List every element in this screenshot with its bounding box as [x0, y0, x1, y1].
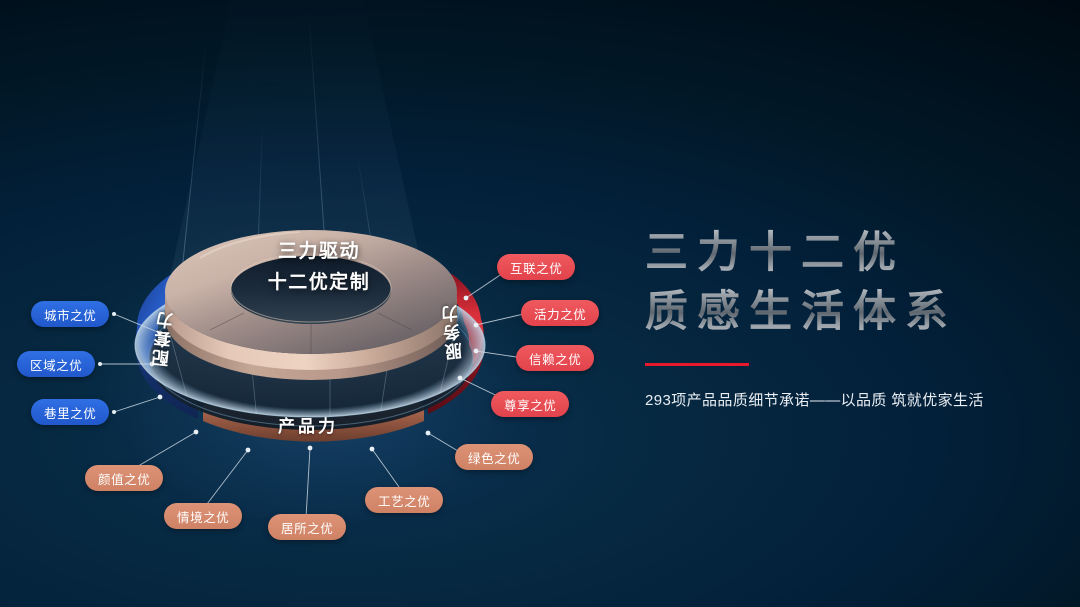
headline-line1: 三力十二优 — [645, 224, 1045, 283]
chip-vitality[interactable]: 活力之优 — [521, 300, 599, 326]
chip-dwelling[interactable]: 居所之优 — [268, 514, 346, 540]
headline-line2: 质感生活体系 — [645, 283, 1045, 342]
headline-block: 三力十二优 质感生活体系 293项产品品质细节承诺——以品质 筑就优家生活 — [645, 224, 1045, 410]
chip-craft[interactable]: 工艺之优 — [365, 487, 443, 513]
chip-trust[interactable]: 信赖之优 — [516, 345, 594, 371]
headline-subtitle: 293项产品品质细节承诺——以品质 筑就优家生活 — [645, 389, 1045, 410]
chip-privilege[interactable]: 尊享之优 — [491, 391, 569, 417]
accent-rule — [645, 363, 749, 366]
torus — [165, 230, 457, 380]
chip-internet[interactable]: 互联之优 — [497, 254, 575, 280]
slide-canvas: 配套力 服务力 产品力 三力驱动 十二优定制 城市之优 区域之优 巷里之优 互联… — [0, 0, 1080, 607]
chip-lane[interactable]: 巷里之优 — [31, 399, 109, 425]
chip-region[interactable]: 区域之优 — [17, 351, 95, 377]
chip-city[interactable]: 城市之优 — [31, 301, 109, 327]
chip-green[interactable]: 绿色之优 — [455, 444, 533, 470]
chip-scene[interactable]: 情境之优 — [164, 503, 242, 529]
chip-aesthetic[interactable]: 颜值之优 — [85, 465, 163, 491]
